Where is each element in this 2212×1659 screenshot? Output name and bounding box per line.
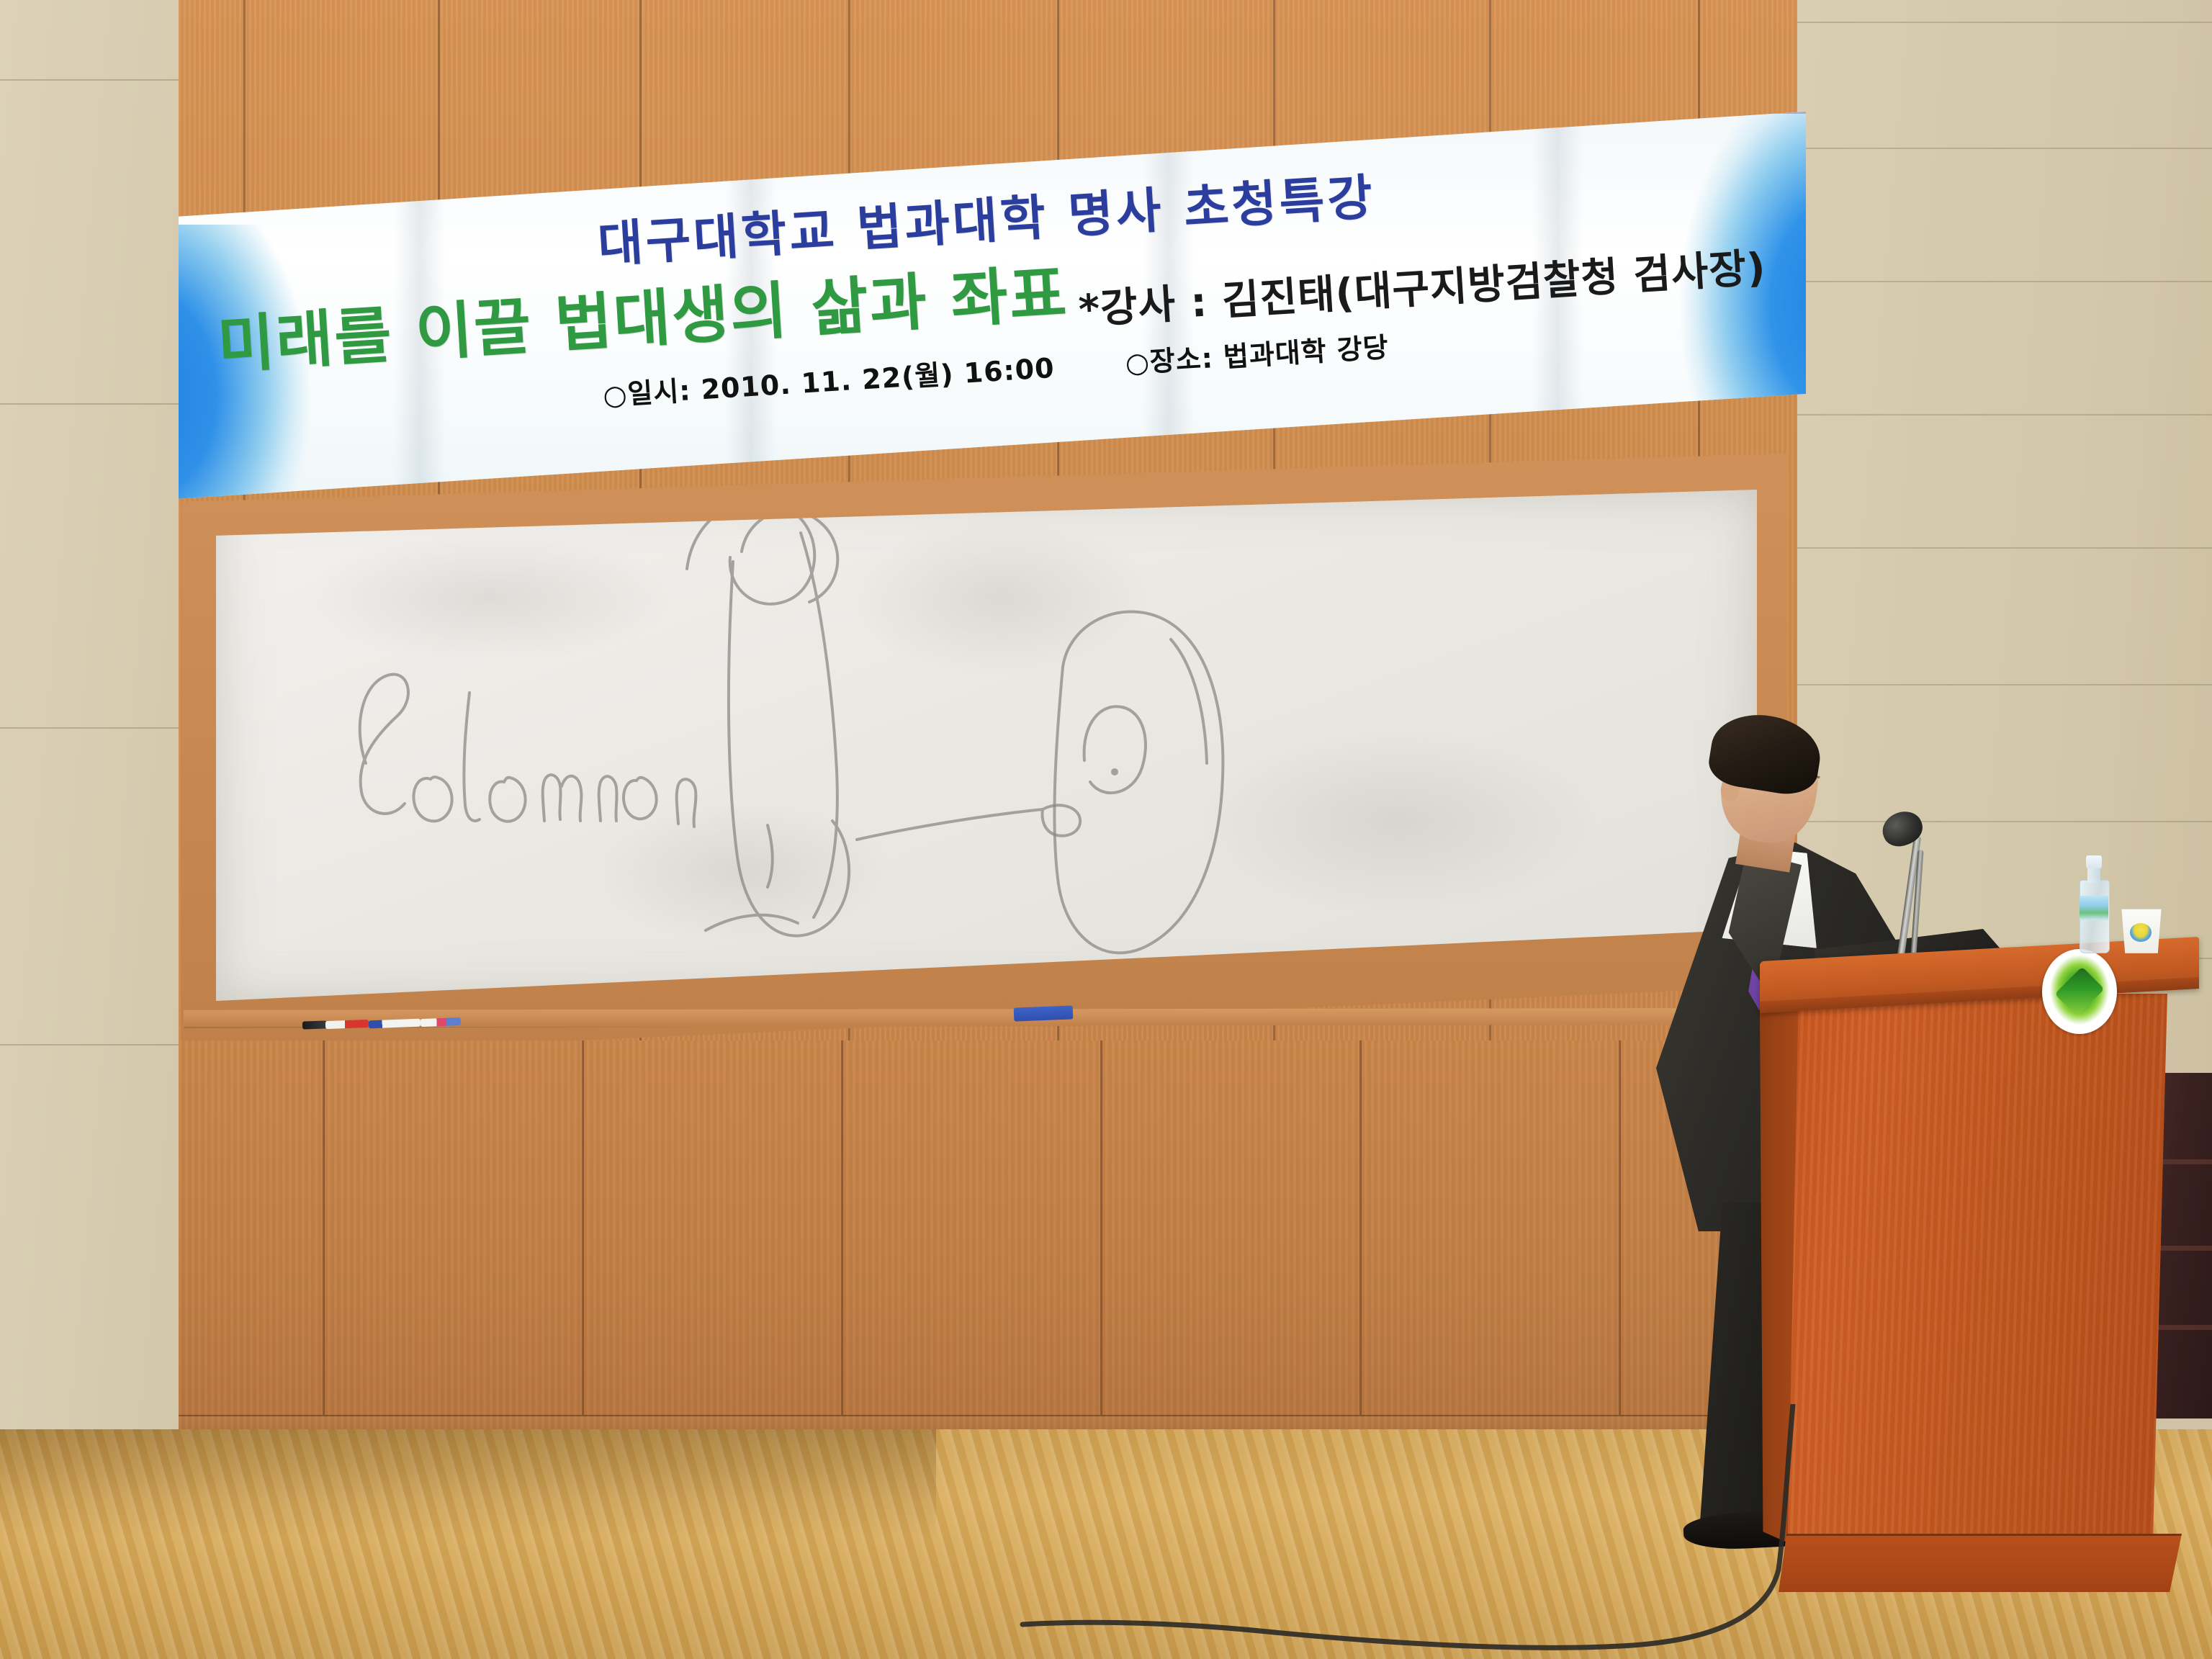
lecture-hall-photo: 대구대학교 법과대학 명사 초청특강 미래를 이끌 법대생의 삶과 좌표*강사 … (0, 0, 2212, 1659)
lower-wall-paneling (179, 1040, 1800, 1444)
whiteboard-eraser[interactable] (1014, 1005, 1074, 1021)
banner-date: ○일시: 2010. 11. 22(월) 16:00 (602, 352, 1056, 412)
whiteboard-surface[interactable] (216, 490, 1757, 1001)
marker-black[interactable] (302, 1020, 327, 1029)
bottle-label (2080, 896, 2108, 920)
left-beige-wall (0, 0, 180, 1465)
whiteboard-doodle-pointer (850, 770, 1109, 886)
microphone-cable (0, 1404, 2212, 1659)
bottle-cap (2086, 855, 2102, 868)
water-bottle (2078, 854, 2110, 952)
banner-place: ○장소: 법과대학 강당 (1124, 331, 1390, 379)
paper-cup-logo (2130, 923, 2152, 942)
university-seal-emblem (2042, 949, 2117, 1034)
marker-pink[interactable] (421, 1017, 461, 1027)
whiteboard-doodle-left (641, 482, 958, 972)
marker-red[interactable] (325, 1020, 369, 1029)
